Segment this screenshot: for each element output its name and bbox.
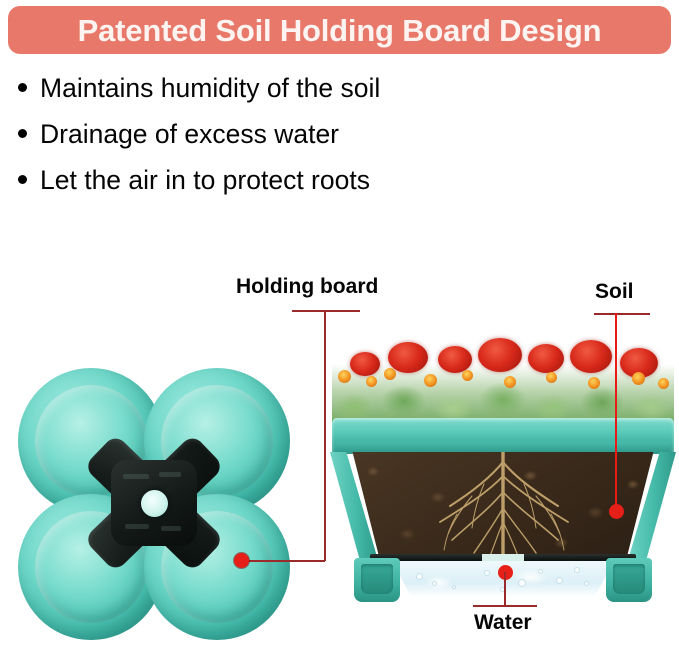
bloom-orange bbox=[588, 377, 600, 389]
water-bubble bbox=[518, 579, 526, 587]
bloom-orange bbox=[384, 368, 396, 380]
callout-line-water-crossbar bbox=[473, 605, 537, 607]
water-bubble bbox=[556, 577, 563, 584]
callout-label-soil: Soil bbox=[595, 281, 634, 302]
bloom-red bbox=[438, 346, 472, 373]
flower-layer bbox=[332, 330, 674, 426]
water-bubble bbox=[584, 581, 589, 586]
callout-line-holding-board-crossbar bbox=[292, 310, 360, 312]
callout-label-water: Water bbox=[474, 612, 532, 633]
bloom-red bbox=[478, 338, 522, 372]
planter-leg-inner bbox=[613, 564, 645, 594]
insert-rib bbox=[125, 524, 149, 529]
product-diagram: Holding board Soil Water bbox=[0, 0, 679, 646]
water-bubble bbox=[574, 567, 580, 573]
planter-leg-inner bbox=[361, 564, 393, 594]
water-bubble bbox=[416, 573, 423, 580]
insert-rib bbox=[123, 474, 149, 479]
water-bubble bbox=[538, 569, 543, 574]
bloom-orange bbox=[424, 374, 437, 387]
bloom-red bbox=[388, 342, 428, 373]
bloom-orange bbox=[658, 378, 669, 389]
callout-marker-soil bbox=[609, 504, 624, 519]
bloom-red bbox=[570, 340, 612, 373]
bloom-red bbox=[350, 352, 380, 376]
callout-label-holding-board: Holding board bbox=[236, 276, 378, 297]
drainage-hole bbox=[141, 490, 168, 517]
bloom-orange bbox=[632, 372, 645, 385]
water-bubble bbox=[432, 581, 437, 586]
planter-leg bbox=[354, 558, 400, 602]
callout-line-soil-vertical bbox=[615, 313, 617, 513]
callout-line-water-vertical bbox=[504, 572, 506, 607]
planter-leg bbox=[606, 558, 652, 602]
bloom-orange bbox=[462, 370, 473, 381]
callout-line-holding-board-horizontal bbox=[243, 560, 325, 562]
insert-rib bbox=[159, 472, 181, 477]
bloom-orange bbox=[338, 370, 351, 383]
planter-body bbox=[332, 452, 674, 560]
callout-line-soil-crossbar bbox=[594, 313, 650, 315]
bloom-orange bbox=[546, 372, 557, 383]
bloom-red bbox=[528, 344, 564, 373]
bloom-orange bbox=[504, 376, 516, 388]
callout-marker-holding-board bbox=[234, 553, 249, 568]
product-infographic: Patented Soil Holding Board Design Maint… bbox=[0, 0, 679, 646]
water-bubble bbox=[452, 585, 456, 589]
water-bubble bbox=[484, 570, 490, 576]
blooms bbox=[332, 330, 674, 394]
callout-line-holding-board-vertical bbox=[324, 310, 326, 561]
insert-rib bbox=[161, 526, 181, 531]
bloom-orange bbox=[366, 376, 377, 387]
holding-board-insert bbox=[74, 422, 234, 584]
quatrefoil-planter-top-view bbox=[18, 368, 290, 640]
root-system bbox=[332, 452, 674, 560]
